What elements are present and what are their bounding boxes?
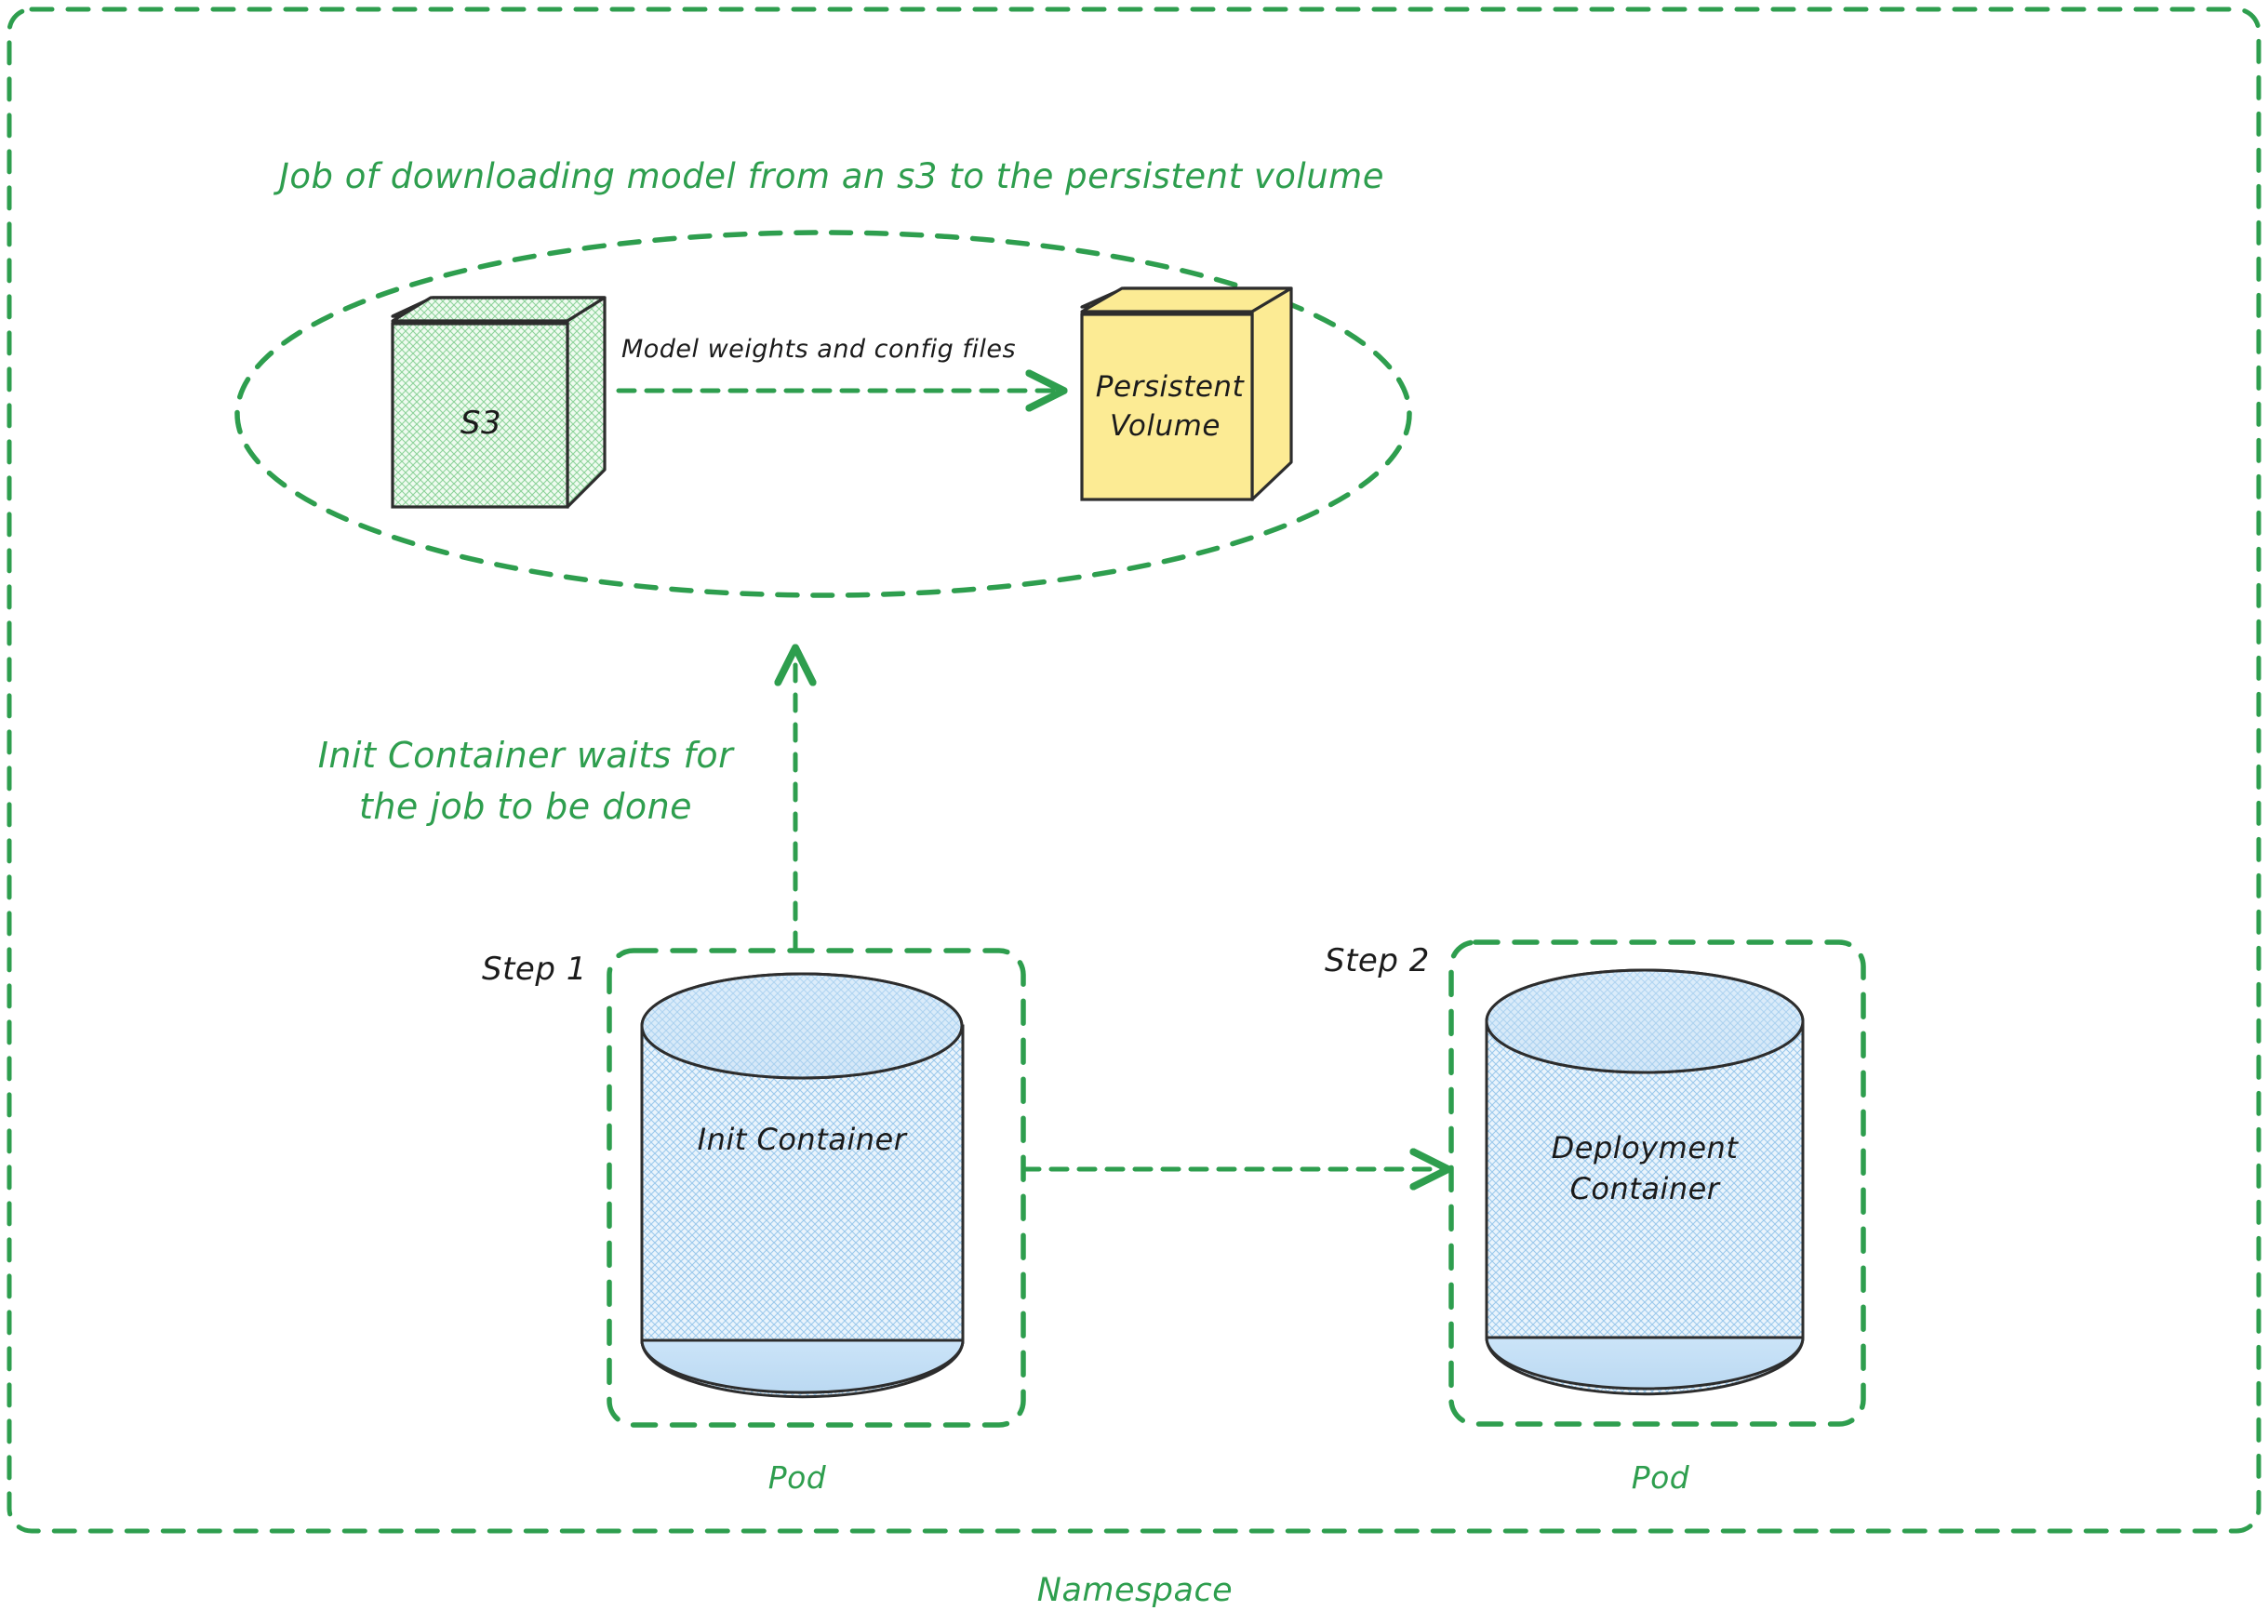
step-2-label: Step 2 (1325, 942, 1511, 979)
pod-1-label: Pod (709, 1460, 886, 1497)
s3-cube (393, 298, 605, 507)
deployment-container-label-line2: Container (1496, 1172, 1794, 1207)
persistent-volume-label-line2: Volume (1074, 409, 1256, 444)
step-1-label: Step 1 (482, 951, 668, 988)
persistent-volume-label-line1: Persistent (1074, 370, 1265, 405)
s3-cube-label: S3 (411, 405, 551, 442)
init-container-cylinder (642, 974, 963, 1397)
namespace-label: Namespace (949, 1572, 1321, 1610)
edge-label-model-weights: Model weights and config files (595, 335, 1042, 365)
init-container-label: Init Container (653, 1123, 951, 1158)
job-group-title: Job of downloading model from an s3 to t… (279, 156, 1367, 197)
wait-edge-label-line2: the job to be done (265, 786, 786, 828)
diagram-canvas: Job of downloading model from an s3 to t… (0, 0, 2268, 1624)
pod-2-label: Pod (1572, 1460, 1749, 1497)
wait-edge-label-line1: Init Container waits for (265, 735, 786, 777)
deployment-container-label-line1: Deployment (1496, 1131, 1794, 1166)
